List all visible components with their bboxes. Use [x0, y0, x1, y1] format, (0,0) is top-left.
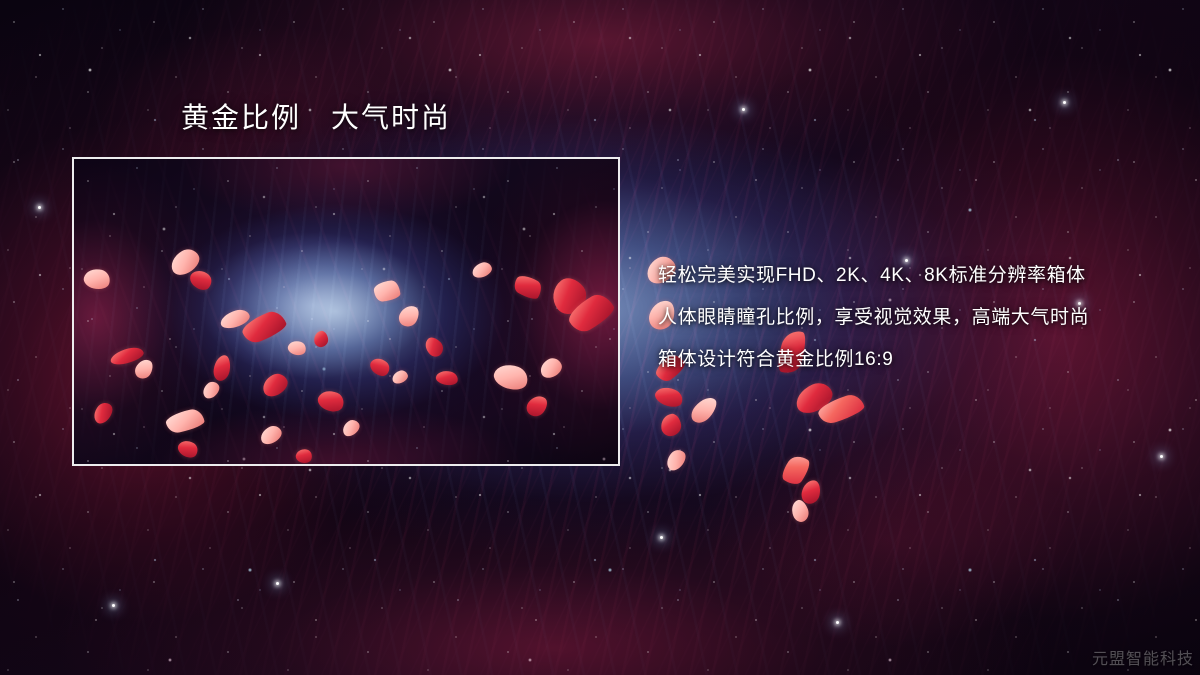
description-line: 轻松完美实现FHD、2K、4K、8K标准分辨率箱体: [658, 255, 1178, 297]
bright-star: [660, 536, 663, 539]
bright-star: [38, 206, 41, 209]
bright-star: [836, 621, 839, 624]
display-cabinet-frame[interactable]: [72, 157, 620, 466]
feature-description: 轻松完美实现FHD、2K、4K、8K标准分辨率箱体 人体眼睛瞳孔比例，享受视觉效…: [658, 255, 1178, 381]
bright-star: [742, 108, 745, 111]
presentation-slide: 黄金比例 大气时尚 轻松完美实现FHD、2K、4K、8K标准分辨率箱体 人体眼睛…: [0, 0, 1200, 675]
company-watermark: 元盟智能科技: [1092, 645, 1194, 669]
description-line: 箱体设计符合黄金比例16:9: [658, 339, 1178, 381]
display-screen-content: [74, 159, 618, 464]
bright-star: [1160, 455, 1163, 458]
bright-star: [112, 604, 115, 607]
screen-nebula-wisps: [74, 159, 618, 464]
bright-star: [1063, 101, 1066, 104]
description-line: 人体眼睛瞳孔比例，享受视觉效果，高端大气时尚: [658, 297, 1178, 339]
page-title: 黄金比例 大气时尚: [181, 101, 451, 135]
bright-star: [276, 582, 279, 585]
